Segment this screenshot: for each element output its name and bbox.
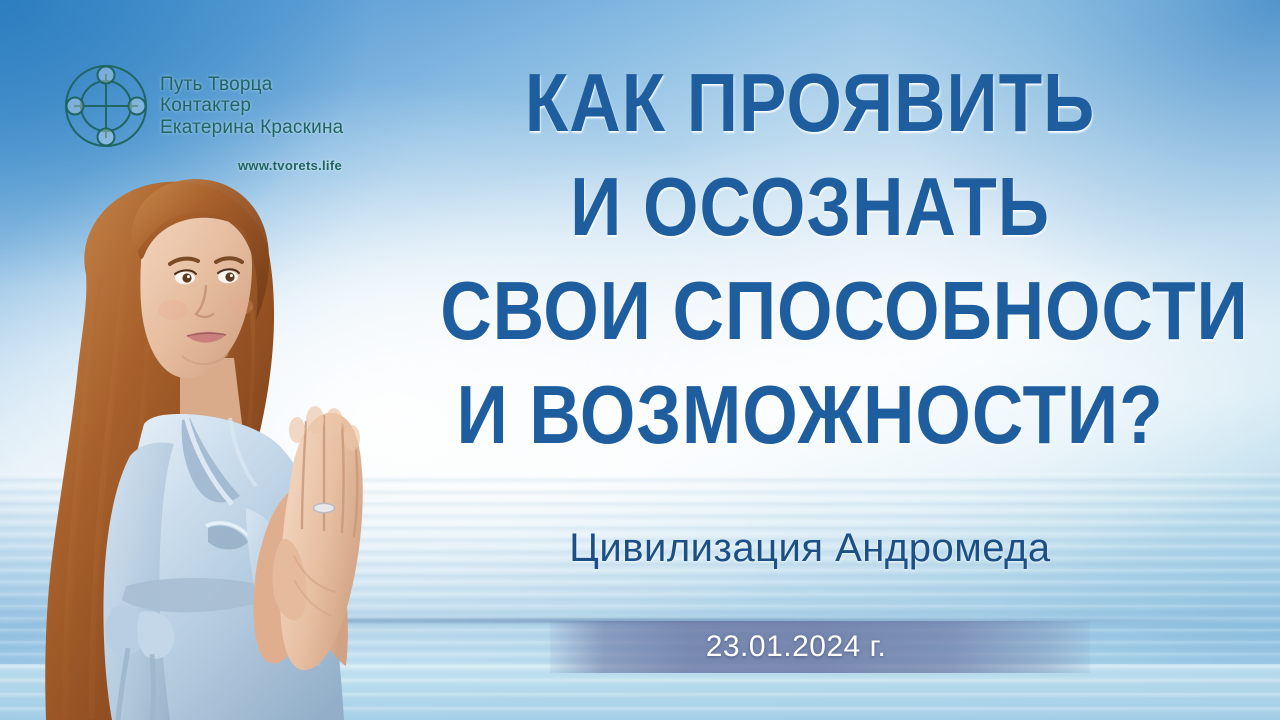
circle-cross-four-nodes-icon	[62, 62, 150, 150]
title-line-4: И ВОЗМОЖНОСТИ?	[440, 374, 1180, 456]
brand-line-1: Путь Творца	[160, 74, 343, 95]
date-text: 23.01.2024 г.	[706, 630, 887, 664]
main-title: КАК ПРОЯВИТЬ И ОСОЗНАТЬ СВОИ СПОСОБНОСТИ…	[380, 62, 1240, 457]
video-thumbnail: Путь Творца Контактер Екатерина Краскина…	[0, 0, 1280, 720]
title-line-3: СВОИ СПОСОБНОСТИ	[440, 270, 1180, 352]
brand-text: Путь Творца Контактер Екатерина Краскина	[160, 62, 343, 138]
title-line-2: И ОСОЗНАТЬ	[440, 166, 1180, 248]
brand-logo[interactable]: Путь Творца Контактер Екатерина Краскина	[62, 62, 343, 150]
brand-line-2: Контактер	[160, 95, 343, 116]
brand-line-3: Екатерина Краскина	[160, 117, 343, 138]
brand-website-url[interactable]: www.tvorets.life	[238, 158, 342, 173]
subtitle: Цивилизация Андромеда	[380, 526, 1240, 571]
date-band: 23.01.2024 г.	[550, 621, 1090, 673]
title-line-1: КАК ПРОЯВИТЬ	[440, 62, 1180, 144]
